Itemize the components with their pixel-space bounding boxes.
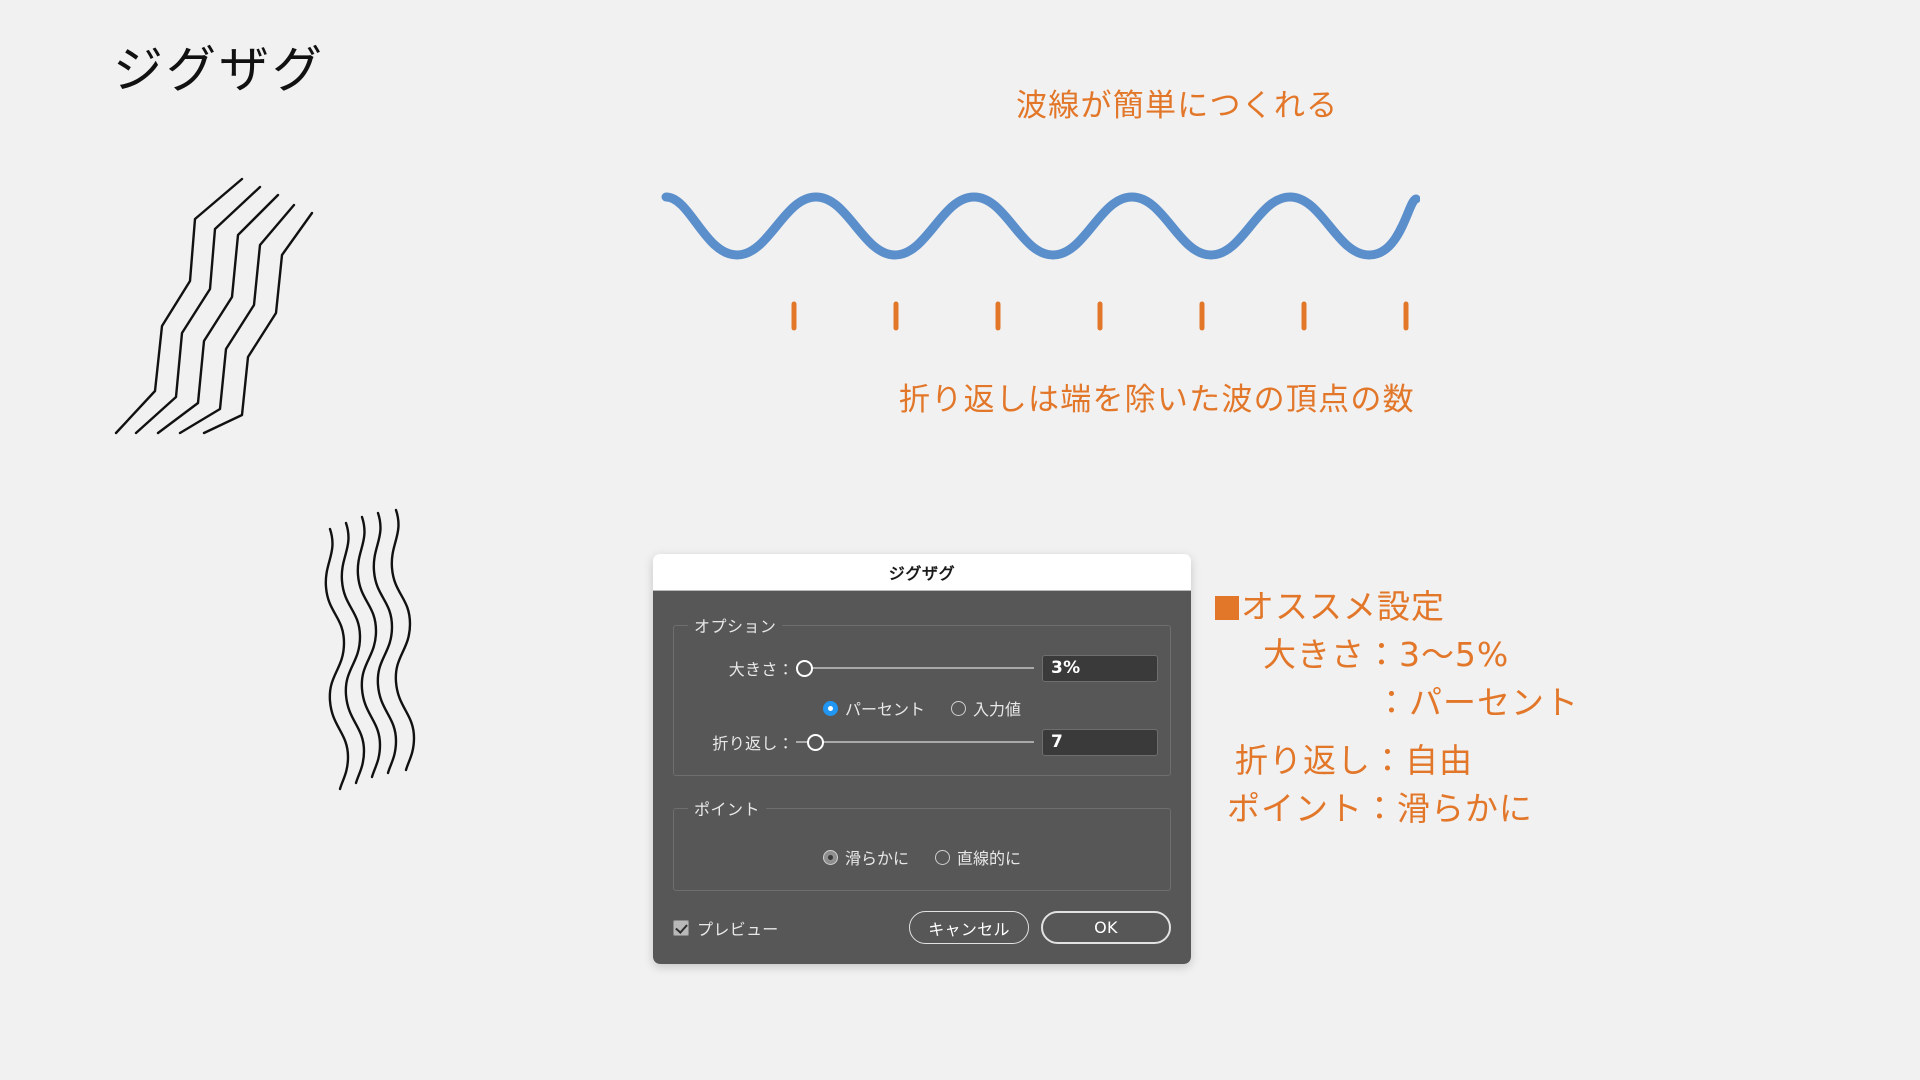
radio-percent-label: パーセント (845, 696, 925, 720)
ridges-row: 折り返し： 7 (686, 725, 1158, 759)
orange-square-bullet-icon (1215, 596, 1239, 620)
radio-percent-dot-icon[interactable] (823, 701, 838, 716)
zigzag-angular-illustration (100, 165, 410, 435)
cancel-button[interactable]: キャンセル (909, 911, 1029, 944)
options-group: オプション 大きさ： 3% パーセント (673, 613, 1171, 776)
slide-canvas: ジグザグ (0, 0, 1920, 1080)
ok-button[interactable]: OK (1041, 911, 1171, 944)
radio-percent[interactable]: パーセント (823, 696, 925, 720)
zigzag-dialog: ジグザグ オプション 大きさ： 3% パーセント (653, 554, 1191, 964)
radio-absolute-label: 入力値 (973, 696, 1021, 720)
size-slider[interactable] (796, 656, 1034, 680)
options-group-legend: オプション (688, 613, 782, 637)
recommended-heading-label: オススメ設定 (1241, 587, 1445, 626)
radio-corner-dot-icon[interactable] (935, 850, 950, 865)
size-value-field[interactable]: 3% (1042, 655, 1158, 682)
ridges-label: 折り返し： (686, 730, 794, 754)
zigzag-smooth-illustration (300, 505, 510, 795)
radio-smooth[interactable]: 滑らかに (823, 845, 909, 869)
radio-corner-label: 直線的に (957, 845, 1021, 869)
ridges-slider-track[interactable] (796, 741, 1034, 743)
ridges-value-field[interactable]: 7 (1042, 729, 1158, 756)
recommended-line-ridges: 折り返し：自由 (1235, 737, 1579, 785)
dialog-titlebar: ジグザグ (653, 554, 1191, 591)
radio-smooth-dot-icon[interactable] (823, 850, 838, 865)
dialog-title: ジグザグ (889, 560, 956, 584)
point-radio-row: 滑らかに 直線的に (686, 840, 1158, 874)
ridges-slider-knob[interactable] (807, 734, 824, 751)
radio-corner[interactable]: 直線的に (935, 845, 1021, 869)
recommended-line-point: ポイント：滑らかに (1227, 785, 1579, 833)
unit-radio-row: パーセント 入力値 (686, 691, 1158, 725)
radio-smooth-label: 滑らかに (845, 845, 909, 869)
size-row: 大きさ： 3% (686, 651, 1158, 685)
recommended-heading: オススメ設定 (1215, 583, 1579, 631)
radio-absolute-dot-icon[interactable] (951, 701, 966, 716)
wave-peak-ticks (790, 300, 1410, 332)
recommended-settings-block: オススメ設定 大きさ：3〜5% ：パーセント 折り返し：自由 ポイント：滑らかに (1215, 583, 1579, 833)
annotation-wave-bottom: 折り返しは端を除いた波の頂点の数 (899, 374, 1415, 419)
ridges-slider[interactable] (796, 730, 1034, 754)
size-label: 大きさ： (686, 656, 794, 680)
dialog-body: オプション 大きさ： 3% パーセント (653, 591, 1191, 964)
page-title: ジグザグ (113, 30, 325, 102)
size-slider-track[interactable] (796, 667, 1034, 669)
recommended-line-size: 大きさ：3〜5% (1263, 631, 1579, 679)
blue-wave-illustration (660, 175, 1420, 285)
point-group: ポイント 滑らかに 直線的に (673, 796, 1171, 891)
preview-checkbox-icon[interactable] (673, 920, 689, 936)
dialog-footer: プレビュー キャンセル OK (673, 911, 1171, 944)
annotation-wave-top: 波線が簡単につくれる (1016, 80, 1338, 125)
preview-label: プレビュー (697, 916, 779, 940)
radio-absolute[interactable]: 入力値 (951, 696, 1021, 720)
recommended-line-unit: ：パーセント (1375, 679, 1579, 727)
preview-checkbox-wrap[interactable]: プレビュー (673, 916, 779, 940)
size-slider-knob[interactable] (796, 660, 813, 677)
point-group-legend: ポイント (688, 796, 766, 820)
dialog-buttons: キャンセル OK (909, 911, 1171, 944)
